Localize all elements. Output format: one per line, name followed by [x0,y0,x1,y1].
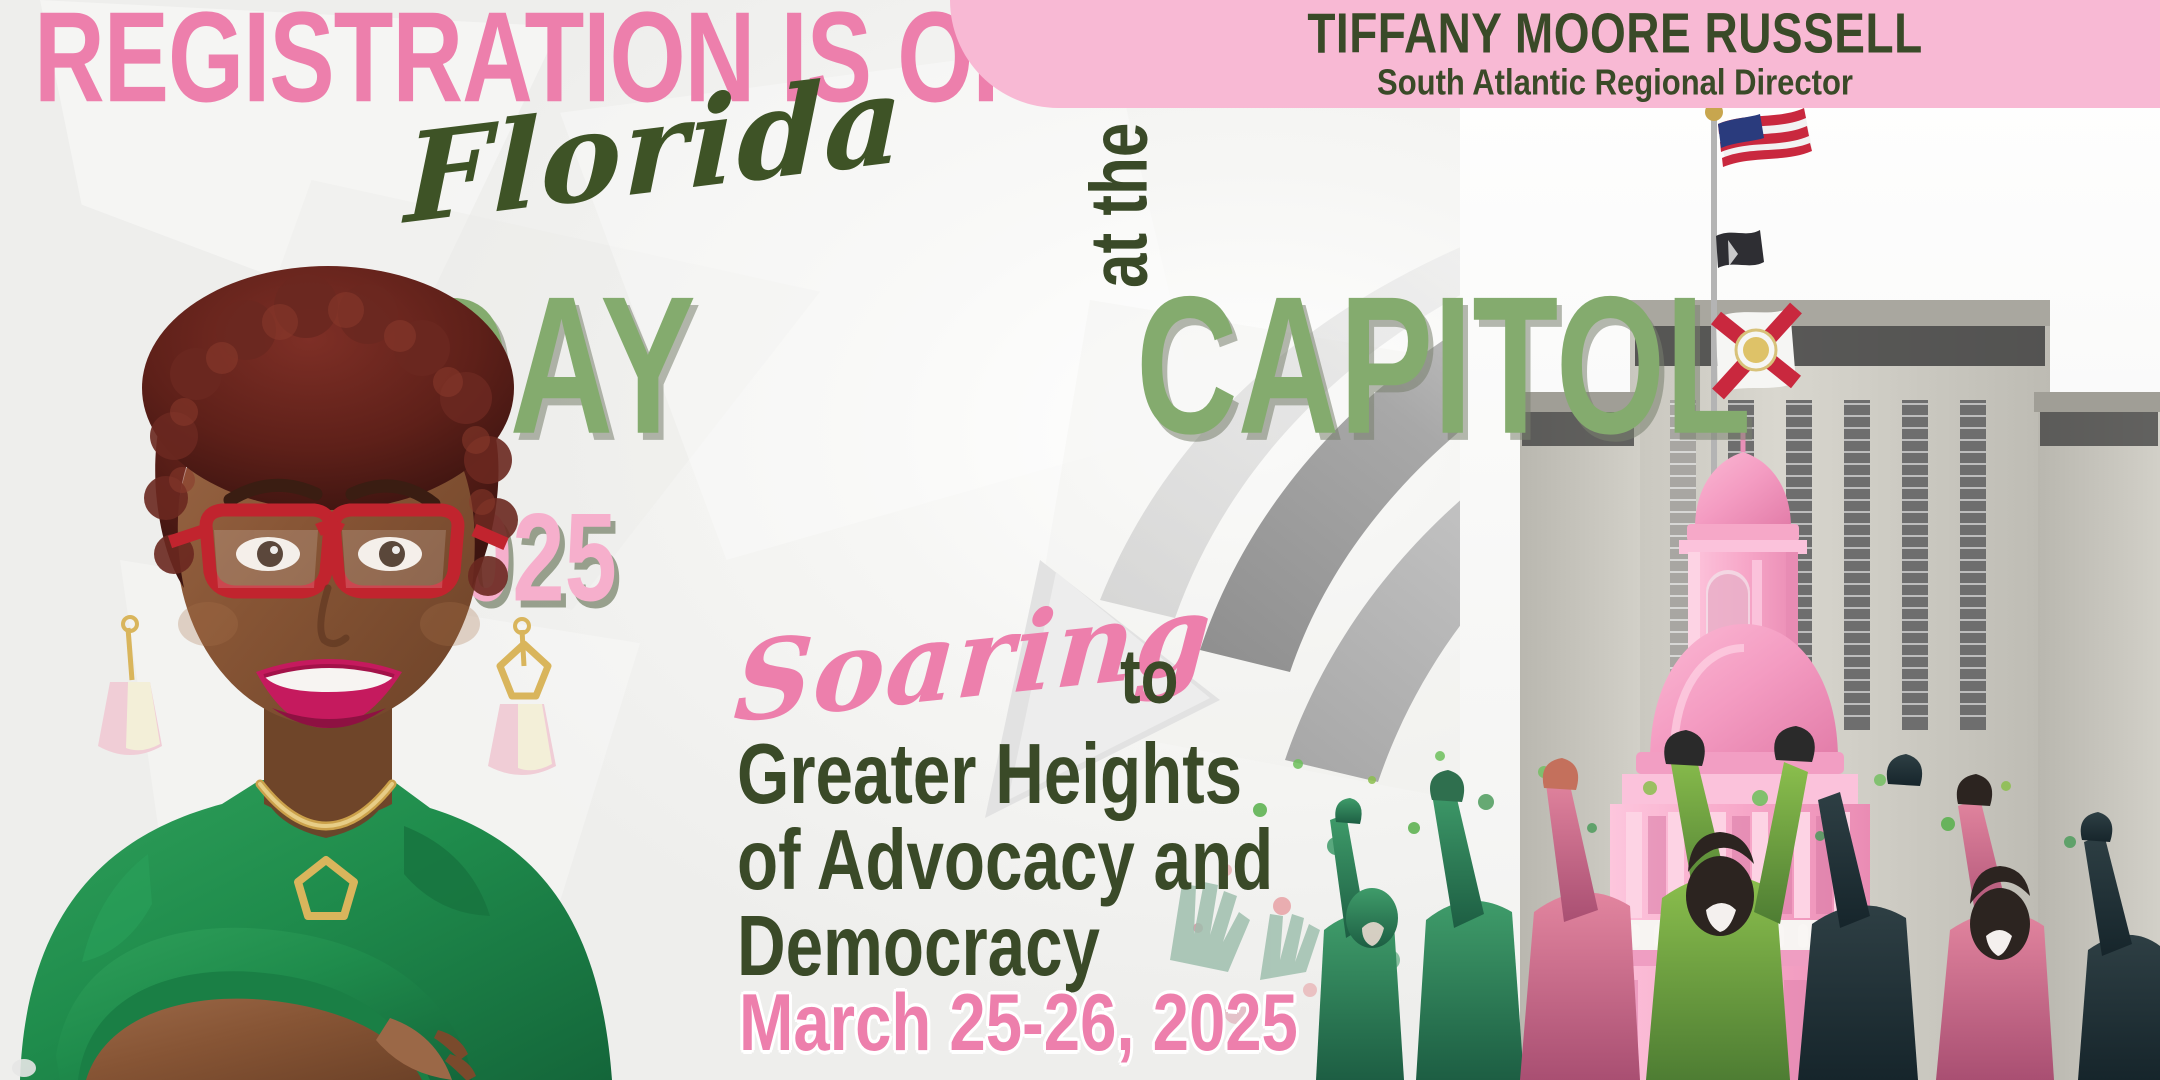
event-date: March 25-26, 2025 [739,982,1298,1063]
earring-left [98,617,162,755]
speaker-name-badge: TIFFANY MOORE RUSSELL South Atlantic Reg… [950,0,2160,108]
speaker-name: TIFFANY MOORE RUSSELL [1307,5,1922,61]
title-capitol: CAPITOL [1136,268,1751,464]
portrait-tiffany-moore-russell [0,68,660,1080]
tagline-line-2: of Advocacy and [737,816,1273,902]
tagline-to: to [1120,640,1179,717]
tagline-line-1: Greater Heights [737,730,1242,816]
earring-right [488,619,556,775]
tagline-line-3: Democracy [737,902,1100,988]
speaker-role: South Atlantic Regional Director [1377,65,1853,101]
poster-canvas: REGISTRATION IS OPEN TIFFANY MOORE RUSSE… [0,0,2160,1080]
